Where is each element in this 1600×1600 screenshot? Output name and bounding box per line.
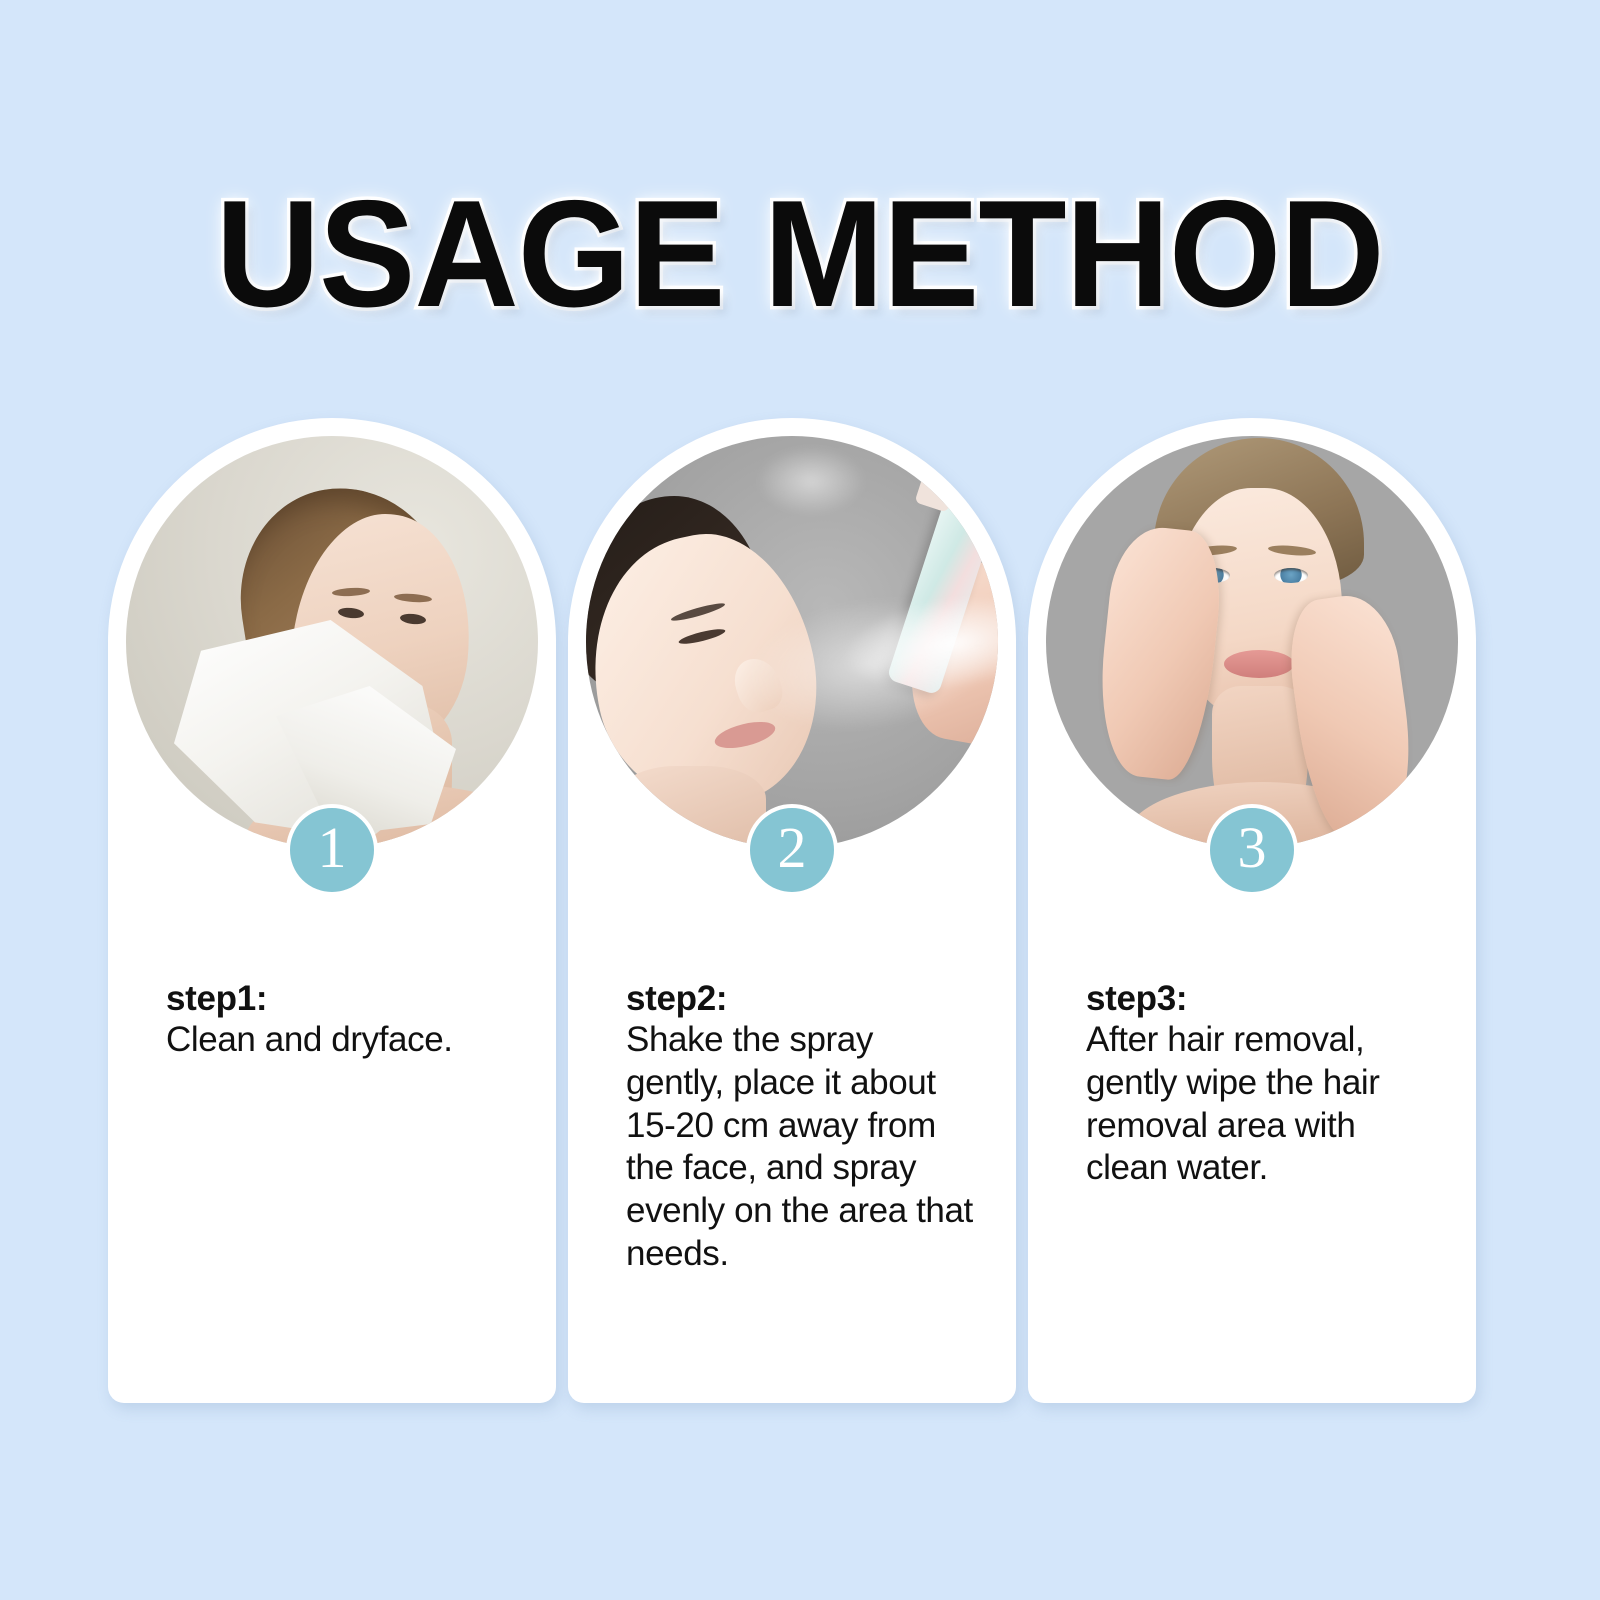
step-2-text: step2: Shake the spray gently, place it … xyxy=(626,978,986,1275)
spray-mist xyxy=(701,502,998,772)
usage-method-poster: USAGE METHOD xyxy=(0,0,1600,1600)
steps-row: 1 step1: Clean and dryface. xyxy=(0,418,1600,1418)
step-3-body: After hair removal, gently wipe the hair… xyxy=(1086,1019,1446,1190)
cleansing-sheet-scene xyxy=(126,436,538,848)
step-2-body: Shake the spray gently, place it about 1… xyxy=(626,1019,986,1275)
clean-face-scene xyxy=(1046,436,1458,848)
step-1-photo xyxy=(126,436,538,848)
step-3-text: step3: After hair removal, gently wipe t… xyxy=(1086,978,1446,1190)
step-badge-1: 1 xyxy=(286,804,378,896)
eye-right xyxy=(1274,568,1308,583)
step-2-label: step2: xyxy=(626,978,986,1019)
step-2-photo-ring xyxy=(580,430,1004,854)
step-1-text: step1: Clean and dryface. xyxy=(166,978,526,1062)
step-card-3: 3 step3: After hair removal, gently wipe… xyxy=(1028,418,1476,1403)
step-1-label: step1: xyxy=(166,978,526,1019)
step-3-label: step3: xyxy=(1086,978,1446,1019)
title-block: USAGE METHOD xyxy=(0,178,1600,330)
step-card-2: 2 step2: Shake the spray gently, place i… xyxy=(568,418,1016,1403)
step-3-photo-ring xyxy=(1040,430,1464,854)
step-badge-3: 3 xyxy=(1206,804,1298,896)
step-1-photo-ring xyxy=(120,430,544,854)
lips xyxy=(1224,650,1294,678)
page-title: USAGE METHOD xyxy=(216,178,1384,330)
step-1-body: Clean and dryface. xyxy=(166,1019,526,1062)
step-2-photo xyxy=(586,436,998,848)
step-3-photo xyxy=(1046,436,1458,848)
spray-scene xyxy=(586,436,998,848)
step-badge-2: 2 xyxy=(746,804,838,896)
spray-mist-droplets xyxy=(756,446,866,516)
neck-shape xyxy=(616,766,766,848)
step-card-1: 1 step1: Clean and dryface. xyxy=(108,418,556,1403)
